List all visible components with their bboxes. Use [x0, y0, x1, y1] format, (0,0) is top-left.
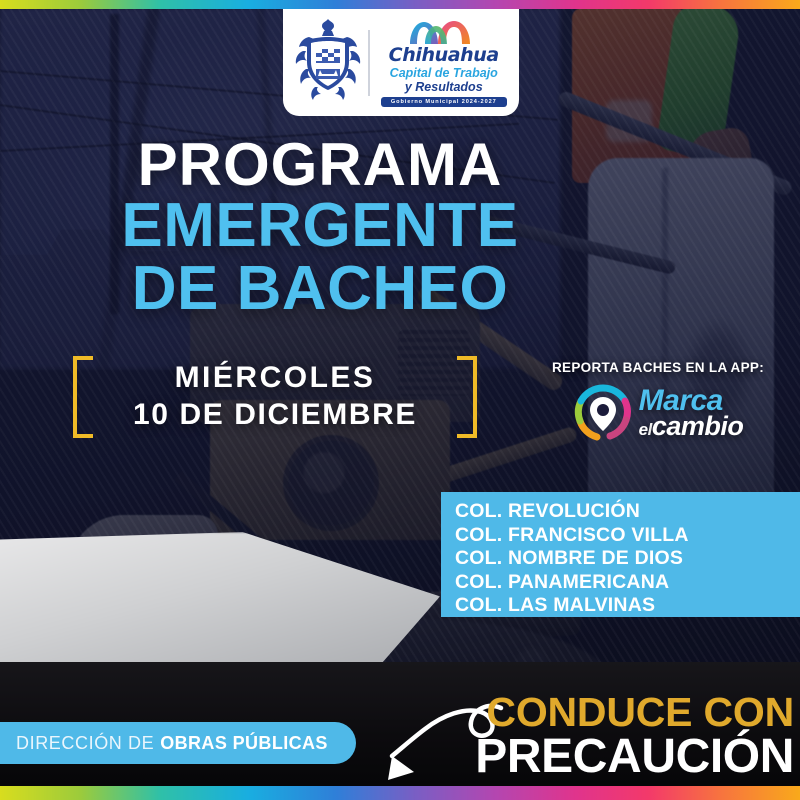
list-item: COL. LAS MALVINAS — [455, 594, 800, 618]
department-prefix: DIRECCIÓN DE — [16, 733, 154, 754]
event-date: MIÉRCOLES 10 DE DICIEMBRE — [60, 352, 490, 444]
app-label: REPORTA BACHES EN LA APP: — [524, 360, 792, 375]
app-word-el: el — [639, 420, 652, 439]
caution-message: CONDUCE CON PRECAUCIÓN — [374, 692, 794, 782]
app-word-elcambio: elcambio — [639, 414, 744, 438]
brand-lockup: Chihuahua Capital de Trabajo y Resultado… — [377, 19, 512, 107]
department-badge: DIRECCIÓN DE OBRAS PÚBLICAS — [0, 722, 356, 764]
coat-of-arms-icon — [291, 17, 365, 109]
list-item: COL. REVOLUCIÓN — [455, 500, 800, 524]
rainbow-strip-top — [0, 0, 800, 9]
list-item: COL. PANAMERICANA — [455, 571, 800, 595]
brand-name: Chihuahua — [389, 46, 499, 65]
poster-root: Chihuahua Capital de Trabajo y Resultado… — [0, 0, 800, 800]
app-logo[interactable]: Marca elcambio — [524, 383, 792, 443]
app-word-cambio: cambio — [652, 411, 744, 441]
brand-tagline-1: Capital de Trabajo — [390, 66, 498, 80]
headline-line-3: DE BACHEO — [0, 257, 640, 320]
headline-line-2: EMERGENTE — [0, 194, 640, 257]
page-title: PROGRAMA EMERGENTE DE BACHEO — [0, 136, 640, 320]
municipal-logo-card: Chihuahua Capital de Trabajo y Resultado… — [283, 8, 519, 116]
date-weekday: MIÉRCOLES — [60, 360, 490, 397]
caution-line-2: PRECAUCIÓN — [374, 733, 794, 782]
colonies-list: COL. REVOLUCIÓN COL. FRANCISCO VILLA COL… — [441, 492, 800, 617]
app-wordmark: Marca elcambio — [639, 387, 744, 438]
brand-tagline-2: y Resultados — [405, 80, 483, 94]
date-text: MIÉRCOLES 10 DE DICIEMBRE — [60, 360, 490, 433]
government-period: Gobierno Municipal 2024-2027 — [381, 97, 507, 107]
location-pin-icon — [573, 383, 633, 443]
logo-divider — [368, 30, 370, 96]
department-name: OBRAS PÚBLICAS — [160, 733, 328, 754]
list-item: COL. FRANCISCO VILLA — [455, 524, 800, 548]
rainbow-strip-bottom — [0, 786, 800, 800]
headline-line-1: PROGRAMA — [0, 136, 640, 194]
list-item: COL. NOMBRE DE DIOS — [455, 547, 800, 571]
chihuahua-swoosh-icon — [407, 19, 481, 45]
app-callout: REPORTA BACHES EN LA APP: Marca elcambio — [524, 360, 792, 443]
date-day-month: 10 DE DICIEMBRE — [60, 397, 490, 434]
caution-line-1: CONDUCE CON — [374, 692, 794, 733]
